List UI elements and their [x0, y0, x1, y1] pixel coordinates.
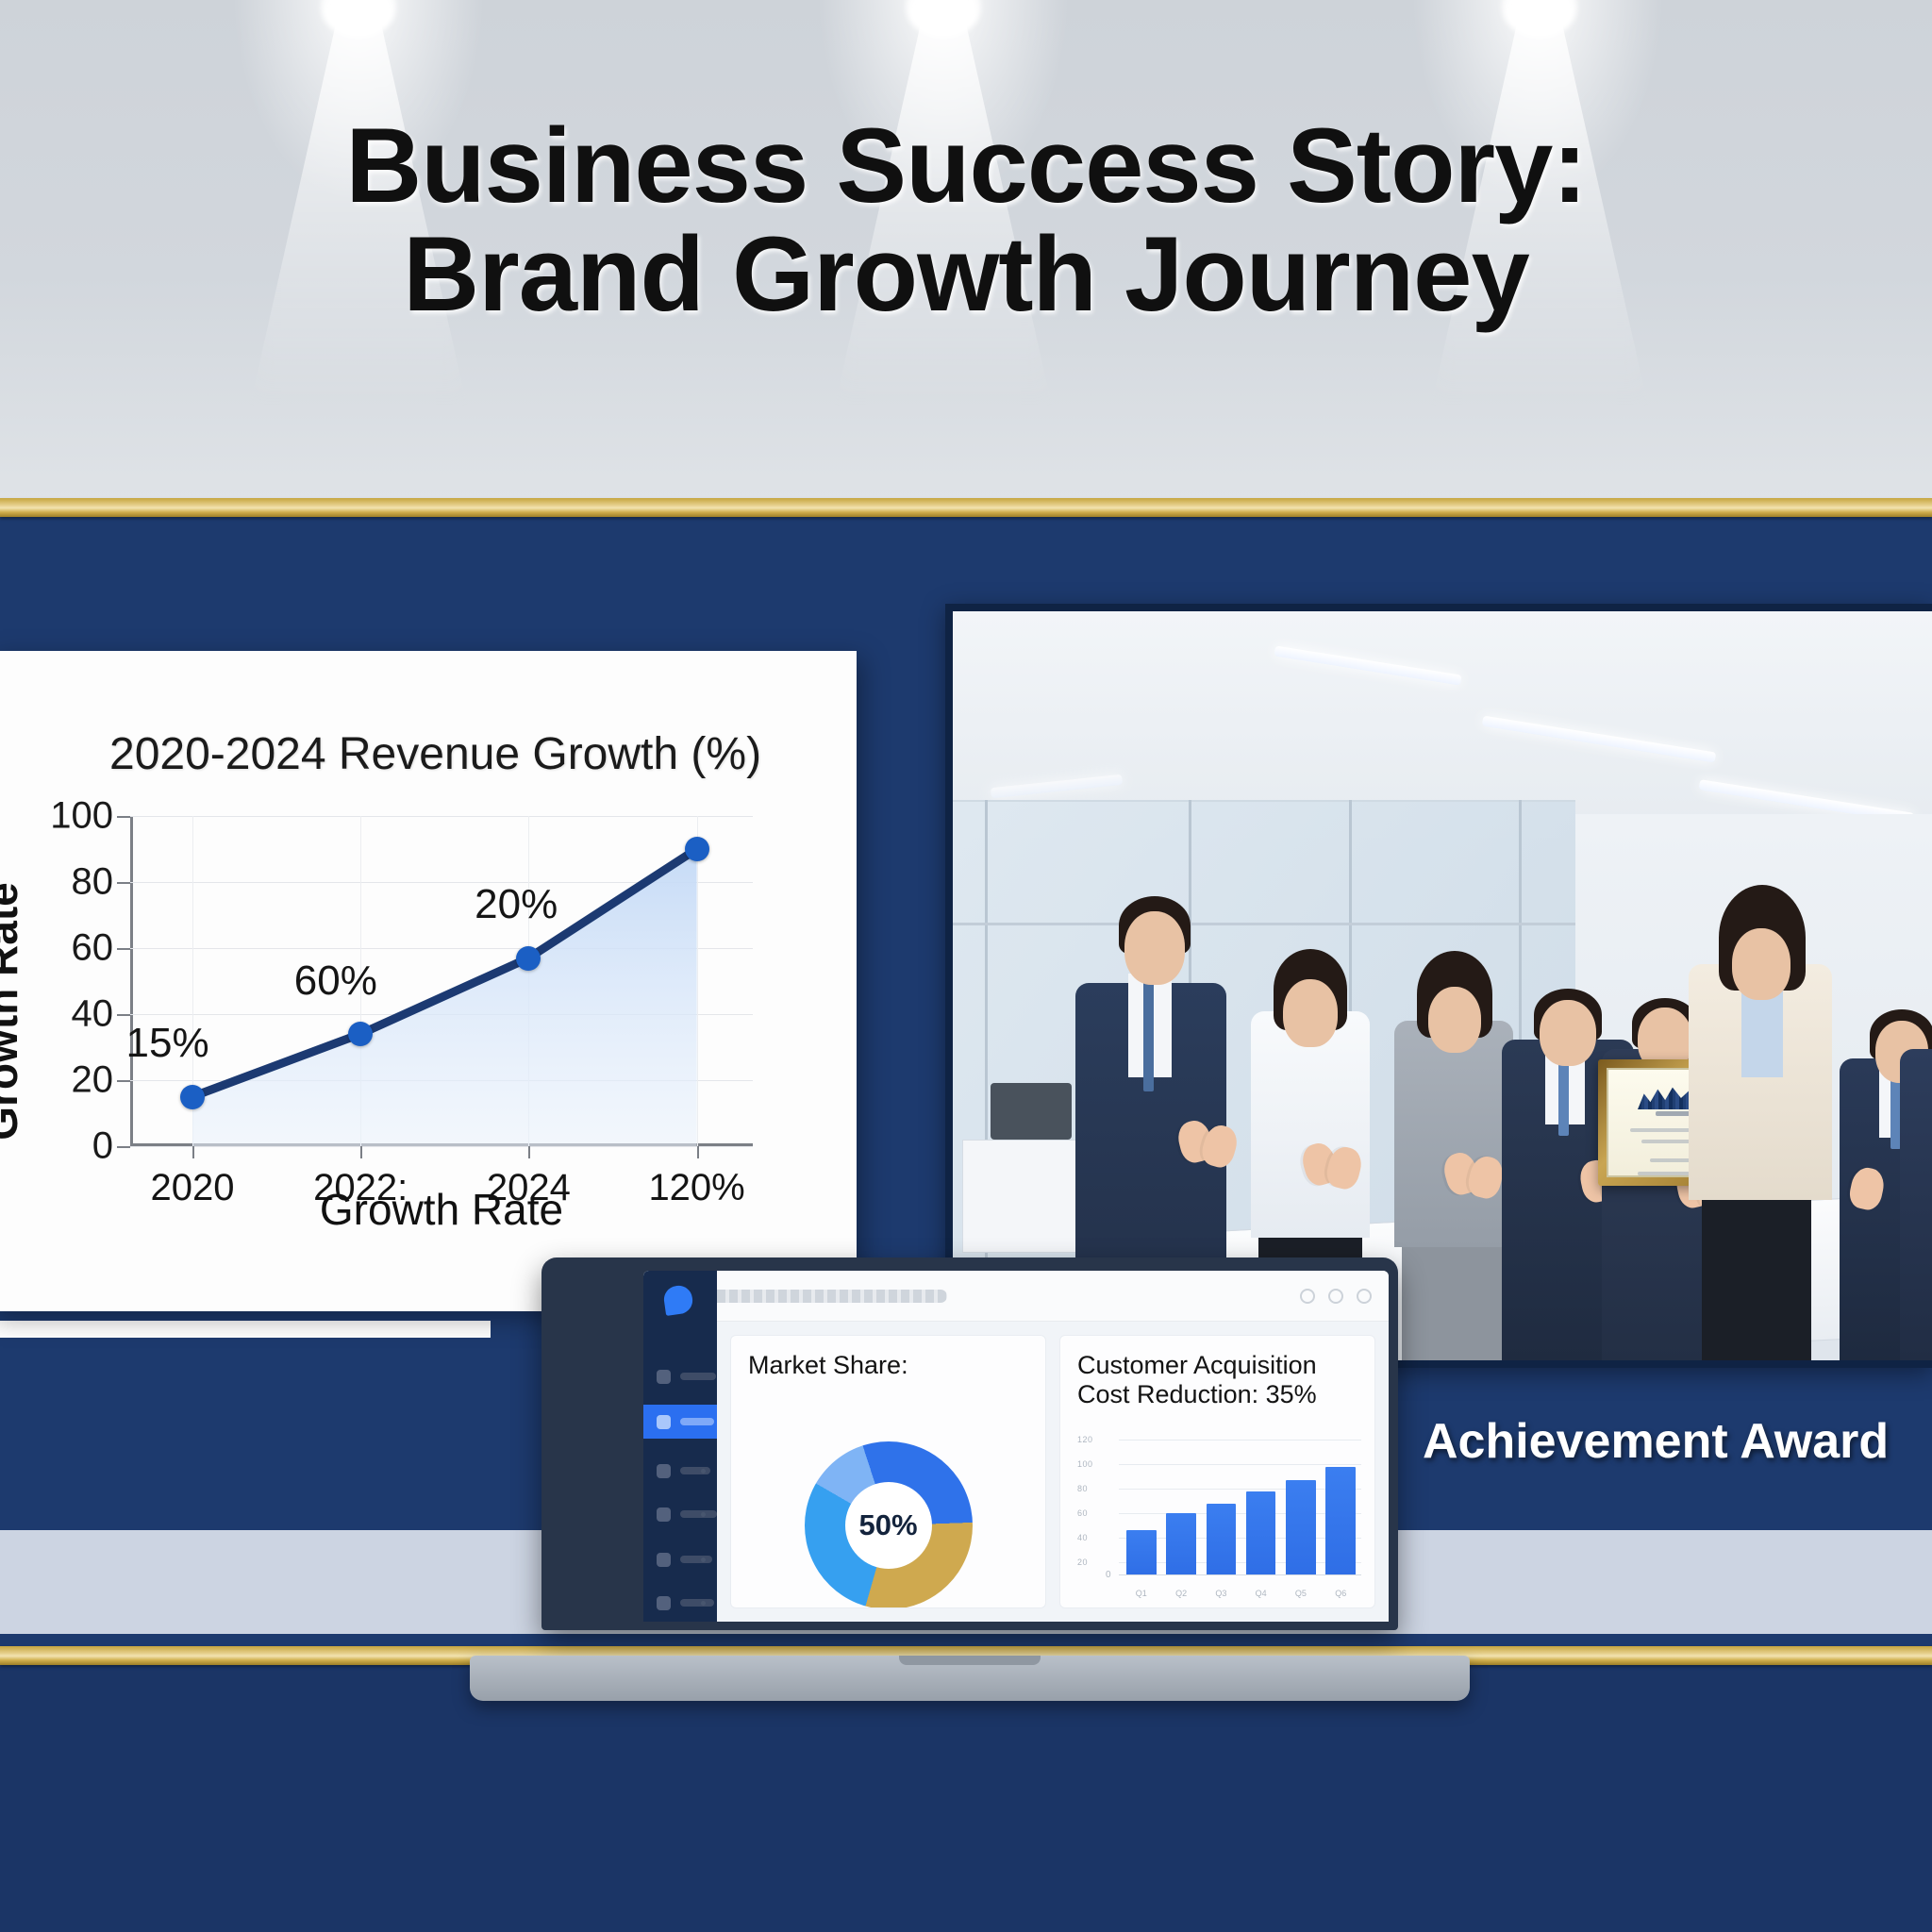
data-point [516, 946, 541, 971]
achievement-award-label: Achievement Award [1423, 1413, 1889, 1470]
y-tick-label: 20 [1077, 1557, 1088, 1567]
sidebar-item-label [680, 1599, 714, 1607]
laptop-base [470, 1656, 1470, 1701]
status-dot-icon [701, 1469, 706, 1474]
footer-background [0, 1665, 1932, 1932]
dashboard-content: Market Share: 50% Customer Acquisition C… [717, 1322, 1389, 1622]
y-tick-label: 100 [1077, 1459, 1093, 1469]
line-series [130, 816, 753, 1146]
bar-x-labels: Q1 Q2 Q3 Q4 Q5 Q6 [1126, 1589, 1356, 1598]
sidebar-item-analytics[interactable] [643, 1405, 717, 1439]
donut-center-label: 50% [845, 1482, 932, 1569]
market-share-title: Market Share: [748, 1351, 1028, 1380]
bar-series [1126, 1440, 1356, 1575]
sidebar-item-label [680, 1418, 714, 1425]
sidebar-item-settings[interactable] [643, 1542, 717, 1576]
page-title-line-2: Brand Growth Journey [0, 220, 1932, 328]
chart-y-axis-label: Growth Rate [0, 882, 27, 1140]
team-photo [953, 611, 1932, 1360]
x-tick-label: Q2 [1166, 1589, 1196, 1598]
sidebar-item-reports[interactable] [643, 1497, 717, 1531]
browser-toolbar [643, 1271, 1389, 1322]
sidebar-item-label [680, 1556, 712, 1563]
settings-icon [657, 1553, 671, 1567]
reports-icon [657, 1507, 671, 1522]
header-wall: Business Success Story: Brand Growth Jou… [0, 0, 1932, 500]
y-tick-label: 60 [72, 927, 114, 970]
sidebar-item-label [680, 1510, 717, 1518]
users-icon [657, 1464, 671, 1478]
laptop-trackpad-notch [899, 1656, 1041, 1665]
person [1896, 945, 1932, 1360]
chart-icon [657, 1415, 671, 1429]
cac-reduction-panel: Customer Acquisition Cost Reduction: 35%… [1059, 1335, 1375, 1608]
cac-reduction-title: Customer Acquisition Cost Reduction: 35% [1077, 1351, 1357, 1410]
bar [1246, 1491, 1276, 1575]
white-accent-stripe [0, 1321, 491, 1338]
app-logo-icon[interactable] [662, 1284, 694, 1316]
poster-canvas: Business Success Story: Brand Growth Jou… [0, 0, 1932, 1932]
status-dot-icon [701, 1512, 706, 1517]
y-tick-label: 20 [72, 1059, 114, 1102]
ceiling-light-icon [906, 0, 981, 38]
data-point [685, 837, 709, 861]
data-point [180, 1085, 205, 1109]
sidebar-item-label [680, 1373, 716, 1380]
bar [1166, 1513, 1196, 1575]
chart-title: 2020-2024 Revenue Growth (%) [109, 728, 761, 780]
sidebar-item-dashboard[interactable] [643, 1359, 717, 1393]
bar [1286, 1480, 1316, 1575]
sidebar-item-help[interactable] [643, 1586, 717, 1620]
x-tick-label: Q3 [1207, 1589, 1237, 1598]
gridline [130, 1146, 753, 1147]
data-point [348, 1022, 373, 1046]
y-tick-label: 80 [1077, 1484, 1088, 1493]
x-tick-label: Q4 [1246, 1589, 1276, 1598]
x-tick-label: 120% [648, 1167, 744, 1209]
y-tick-label: 120 [1077, 1435, 1093, 1444]
y-tick-label: 80 [72, 861, 114, 904]
y-tick-label: 0 [92, 1125, 113, 1168]
y-tick-label: 40 [1077, 1533, 1088, 1542]
person-honoree [1670, 860, 1858, 1360]
x-tick-label: Q6 [1325, 1589, 1356, 1598]
laptop-mockup: Market Share: 50% Customer Acquisition C… [470, 1257, 1470, 1701]
url-bar[interactable] [692, 1290, 947, 1303]
status-dot-icon [701, 1557, 706, 1562]
x-tick-label: Q5 [1286, 1589, 1316, 1598]
bar [1126, 1530, 1157, 1575]
ceiling-light-icon [1502, 0, 1577, 38]
market-share-panel: Market Share: 50% [730, 1335, 1046, 1608]
x-tick-label: 2020 [151, 1167, 235, 1209]
chart-x-axis-label: Growth Rate [320, 1184, 563, 1235]
data-point-label: 60% [294, 958, 377, 1005]
y-tick-label: 100 [50, 795, 113, 838]
sidebar-item-label [680, 1467, 710, 1474]
market-share-donut: 50% [805, 1441, 973, 1608]
status-dot-icon [701, 1601, 706, 1606]
y-tick-label: 60 [1077, 1508, 1088, 1518]
dashboard-sidebar [643, 1271, 717, 1622]
data-point-label: 20% [475, 881, 558, 928]
page-title-line-1: Business Success Story: [0, 111, 1932, 220]
bar [1325, 1467, 1356, 1575]
cac-bar-chart: 120 100 80 60 40 20 0 [1077, 1440, 1361, 1575]
ceiling-light-icon [321, 0, 396, 38]
circle-icon[interactable] [1328, 1289, 1343, 1304]
data-point-label: 15% [126, 1020, 209, 1067]
help-icon [657, 1596, 671, 1610]
team-photo-frame [945, 604, 1932, 1368]
laptop-lid: Market Share: 50% Customer Acquisition C… [541, 1257, 1398, 1630]
revenue-growth-chart-card: 2020-2024 Revenue Growth (%) Growth Rate… [0, 651, 857, 1311]
page-title: Business Success Story: Brand Growth Jou… [0, 111, 1932, 329]
bar [1207, 1504, 1237, 1575]
y-tick-label: 40 [72, 993, 114, 1036]
gold-divider-top [0, 498, 1932, 517]
sidebar-item-users[interactable] [643, 1454, 717, 1488]
x-tick-label: Q1 [1126, 1589, 1157, 1598]
bookmark-icon[interactable] [1357, 1289, 1372, 1304]
chart-plot-area: 100 80 60 40 20 0 2020 2022: 2024 120% [130, 816, 753, 1146]
circle-icon[interactable] [1300, 1289, 1315, 1304]
dashboard-icon [657, 1370, 671, 1384]
y-tick-label: 0 [1106, 1570, 1111, 1580]
dashboard-screen: Market Share: 50% Customer Acquisition C… [643, 1271, 1389, 1622]
